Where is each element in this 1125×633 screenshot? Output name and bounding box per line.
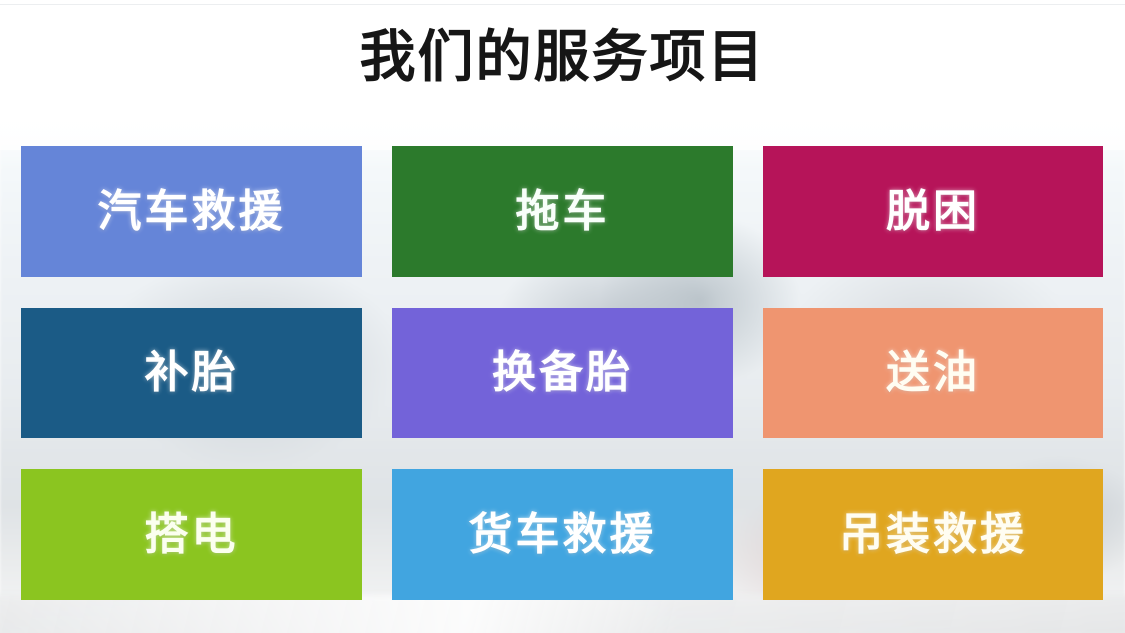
service-tile-label: 货车救援 xyxy=(469,513,657,557)
page-title: 我们的服务项目 xyxy=(0,23,1125,93)
service-tile-spare-tire-change[interactable]: 换备胎 xyxy=(392,308,733,438)
service-tile-towing[interactable]: 拖车 xyxy=(392,146,733,277)
service-tile-label: 吊装救援 xyxy=(839,513,1027,557)
service-tile-jump-start[interactable]: 搭电 xyxy=(21,469,362,600)
service-tile-tire-repair[interactable]: 补胎 xyxy=(21,308,362,438)
service-tile-car-rescue[interactable]: 汽车救援 xyxy=(21,146,362,277)
service-poster: 我们的服务项目 汽车救援 拖车 脱困 补胎 换备胎 送油 搭电 货车救援 吊装救… xyxy=(0,0,1125,633)
service-tile-label: 脱困 xyxy=(886,190,980,234)
top-hairline-divider xyxy=(0,4,1125,5)
service-tile-truck-rescue[interactable]: 货车救援 xyxy=(392,469,733,600)
service-tile-label: 换备胎 xyxy=(492,351,633,395)
service-tile-extrication[interactable]: 脱困 xyxy=(763,146,1103,277)
service-tile-label: 补胎 xyxy=(145,351,239,395)
service-tile-label: 搭电 xyxy=(145,513,239,557)
service-tile-label: 拖车 xyxy=(516,190,610,234)
service-tile-label: 送油 xyxy=(886,351,980,395)
service-tile-grid: 汽车救援 拖车 脱困 补胎 换备胎 送油 搭电 货车救援 吊装救援 xyxy=(21,146,1103,601)
service-tile-label: 汽车救援 xyxy=(98,190,286,234)
service-tile-crane-rescue[interactable]: 吊装救援 xyxy=(763,469,1103,600)
service-tile-fuel-delivery[interactable]: 送油 xyxy=(763,308,1103,438)
